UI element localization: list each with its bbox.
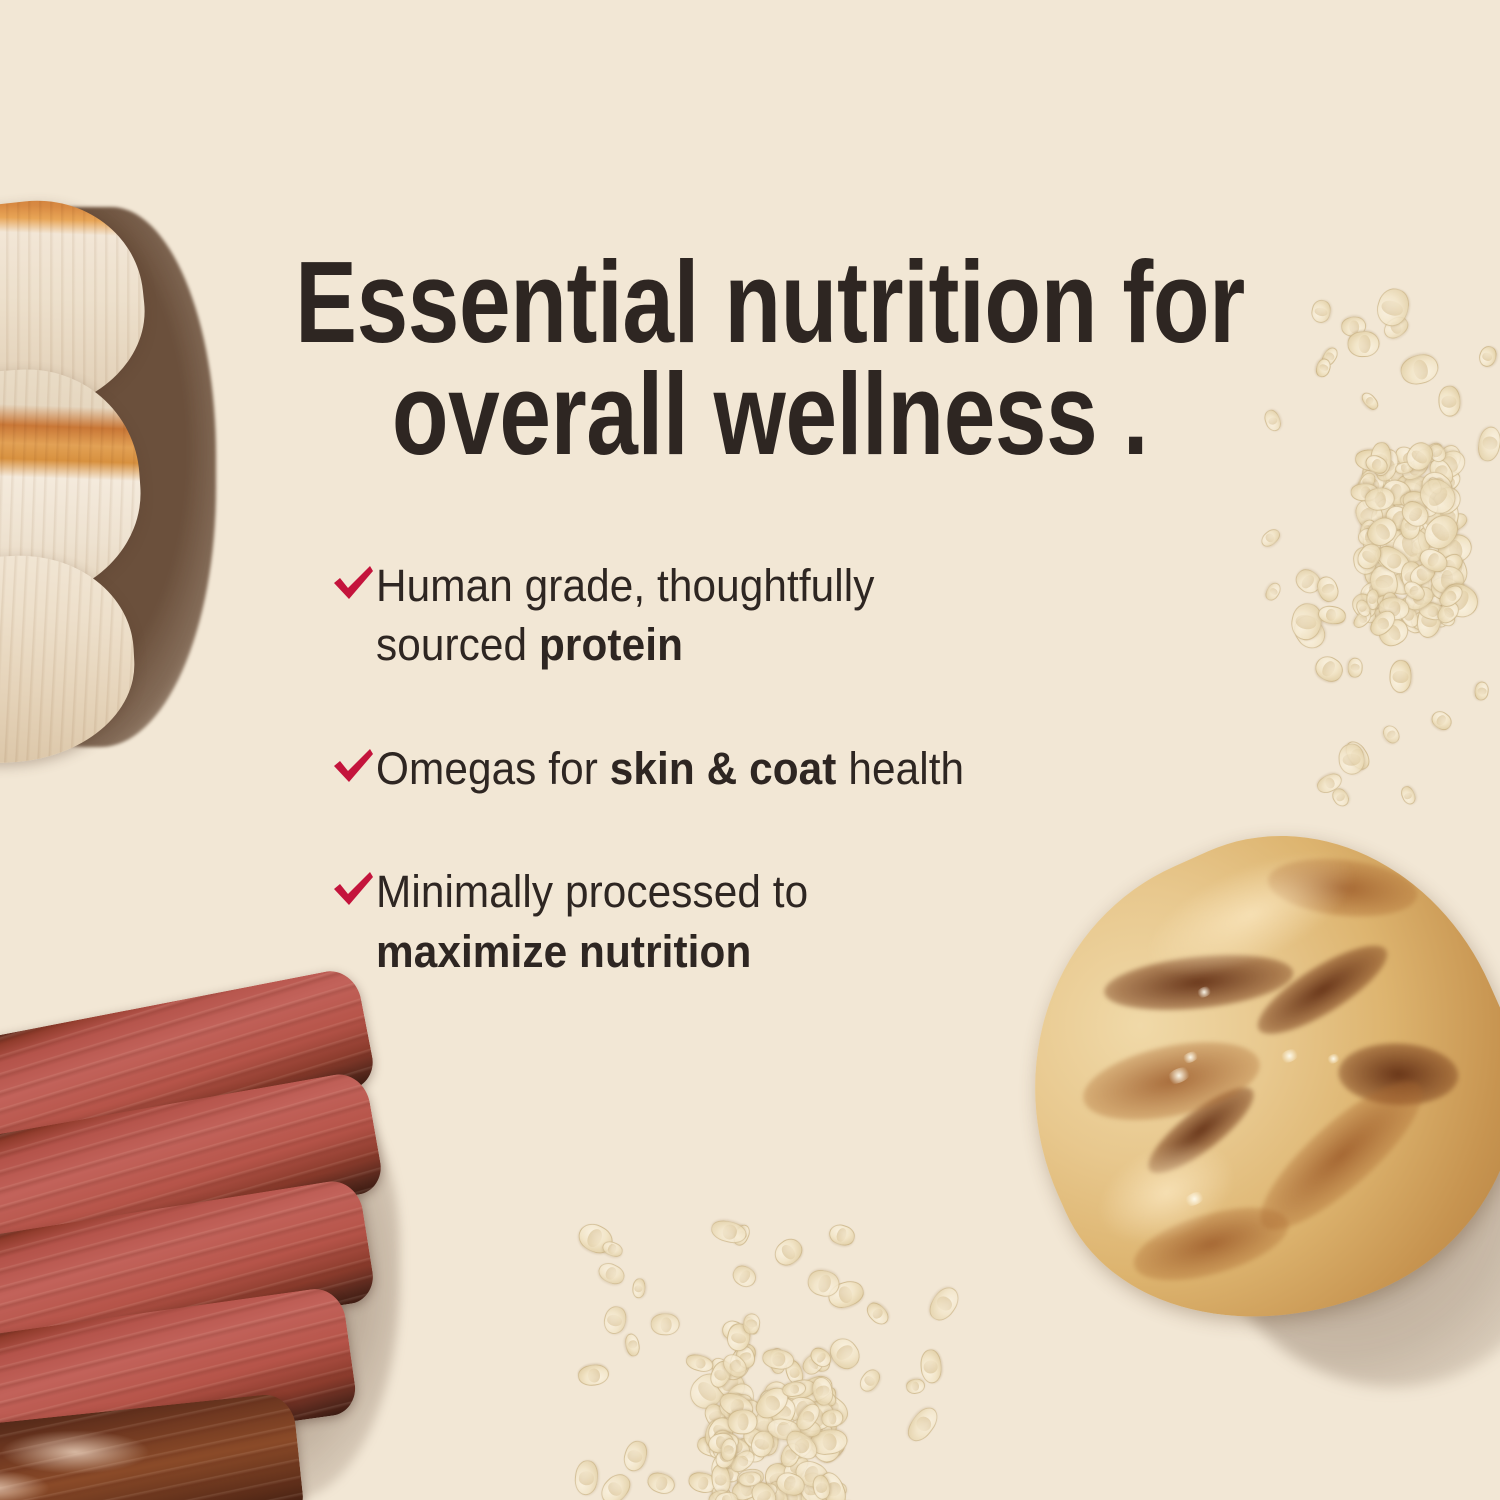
page-title: Essential nutrition for overall wellness… bbox=[274, 246, 1266, 471]
oat-flake bbox=[770, 1234, 808, 1271]
oat-flake bbox=[1438, 385, 1461, 417]
oat-flake bbox=[631, 1278, 646, 1299]
oat-flake bbox=[728, 1261, 760, 1291]
benefits-list: Human grade, thoughtfully sourced protei… bbox=[330, 556, 1230, 981]
oat-flake bbox=[601, 1303, 629, 1336]
oat-flake bbox=[862, 1299, 892, 1329]
oat-flake bbox=[728, 1409, 758, 1435]
oat-flake bbox=[826, 1221, 857, 1248]
oat-flake bbox=[1473, 681, 1490, 702]
oat-flake bbox=[650, 1313, 679, 1336]
oat-flake bbox=[1263, 580, 1284, 603]
oat-flake bbox=[1428, 707, 1455, 734]
oat-flake bbox=[1380, 722, 1402, 746]
oat-flake bbox=[600, 1239, 625, 1260]
oat-flake bbox=[595, 1259, 627, 1288]
rolled-oats-pile-photo bbox=[1275, 318, 1500, 738]
oat-flake bbox=[644, 1469, 678, 1498]
oat-flake bbox=[1476, 344, 1499, 370]
list-item: Minimally processed to maximize nutritio… bbox=[330, 862, 1230, 981]
oat-flake bbox=[1311, 651, 1348, 686]
benefit-text-2: Omegas for skin & coat health bbox=[376, 739, 1179, 798]
oat-flake bbox=[920, 1349, 943, 1384]
oat-flake bbox=[1359, 390, 1381, 413]
roast-pork-slices-photo bbox=[0, 185, 240, 755]
oat-flake bbox=[1310, 299, 1334, 325]
rolled-oats-scatter-photo bbox=[540, 1118, 970, 1500]
check-icon bbox=[330, 866, 376, 912]
oat-flake bbox=[924, 1282, 964, 1325]
oat-flake bbox=[624, 1332, 642, 1357]
oat-flake bbox=[1348, 331, 1380, 357]
oat-flake bbox=[1399, 784, 1418, 806]
list-item: Omegas for skin & coat health bbox=[330, 739, 1230, 798]
oat-flake bbox=[742, 1312, 762, 1335]
sliced-steak-photo bbox=[0, 1000, 460, 1500]
oat-flake bbox=[825, 1333, 865, 1374]
oat-flake bbox=[1475, 425, 1500, 463]
benefit-text-1: Human grade, thoughtfully sourced protei… bbox=[376, 556, 1179, 675]
oat-flake bbox=[1347, 657, 1364, 678]
benefit-text-3: Minimally processed to maximize nutritio… bbox=[376, 862, 1179, 981]
list-item: Human grade, thoughtfully sourced protei… bbox=[330, 556, 1230, 675]
oat-flake bbox=[1389, 659, 1413, 693]
oat-flake bbox=[595, 1468, 635, 1500]
oat-flake bbox=[820, 1408, 844, 1428]
headline-line-2: overall wellness . bbox=[274, 358, 1266, 471]
oat-flake bbox=[1258, 526, 1283, 550]
oat-flake bbox=[902, 1402, 943, 1445]
oat-flake bbox=[906, 1378, 927, 1395]
oat-flake bbox=[1398, 351, 1441, 388]
check-icon bbox=[330, 560, 376, 606]
promotional-banner: Essential nutrition for overall wellness… bbox=[0, 0, 1500, 1500]
oat-flake bbox=[573, 1458, 600, 1496]
check-icon bbox=[330, 743, 376, 789]
oat-flake bbox=[577, 1364, 610, 1387]
oat-flake bbox=[856, 1366, 884, 1396]
oat-flake bbox=[620, 1438, 651, 1474]
headline-line-1: Essential nutrition for bbox=[274, 246, 1266, 359]
